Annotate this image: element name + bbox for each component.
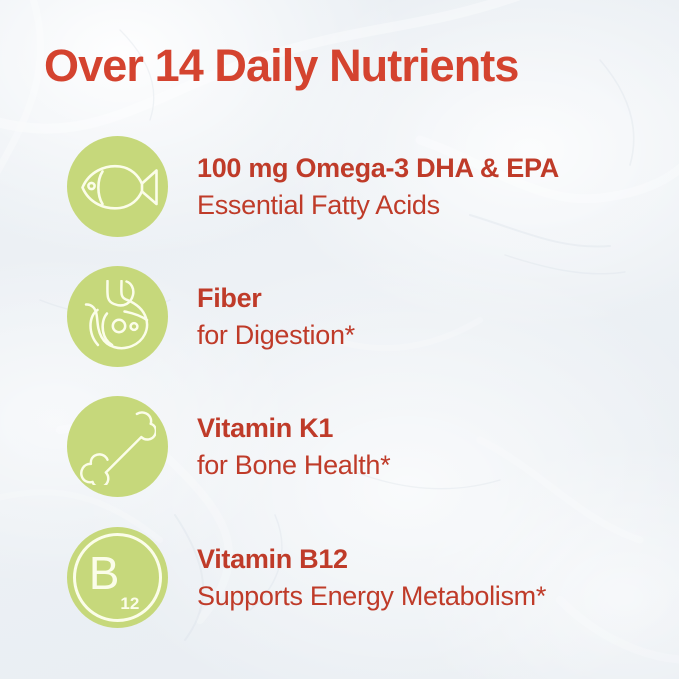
nutrient-row-fiber: Fiber for Digestion*: [0, 266, 679, 367]
nutrient-text-vitamin-b12: Vitamin B12 Supports Energy Metabolism*: [197, 541, 546, 614]
nutrient-subline: Essential Fatty Acids: [197, 187, 559, 224]
nutrient-headline: Vitamin K1: [197, 410, 390, 447]
nutrient-subline: for Bone Health*: [197, 447, 390, 484]
nutrient-infographic: Over 14 Daily Nutrients 100 mg Omega-3 D…: [0, 0, 679, 679]
b12-icon-badge: B12: [67, 527, 168, 628]
stomach-icon: [81, 280, 155, 354]
nutrient-text-omega3: 100 mg Omega-3 DHA & EPA Essential Fatty…: [197, 150, 559, 223]
bone-icon-badge: [67, 396, 168, 497]
stomach-icon-badge: [67, 266, 168, 367]
nutrient-subline: for Digestion*: [197, 317, 355, 354]
page-title: Over 14 Daily Nutrients: [44, 40, 519, 92]
nutrient-headline: 100 mg Omega-3 DHA & EPA: [197, 150, 559, 187]
nutrient-row-vitamin-k1: Vitamin K1 for Bone Health*: [0, 396, 679, 497]
nutrient-headline: Fiber: [197, 280, 355, 317]
nutrient-subline: Supports Energy Metabolism*: [197, 578, 546, 615]
nutrient-text-vitamin-k1: Vitamin K1 for Bone Health*: [197, 410, 390, 483]
nutrient-headline: Vitamin B12: [197, 541, 546, 578]
b12-subscript: 12: [120, 594, 139, 613]
b12-letter: B: [89, 547, 120, 599]
b12-glyph: B12: [89, 550, 139, 602]
nutrient-row-vitamin-b12: B12 Vitamin B12 Supports Energy Metaboli…: [0, 527, 679, 628]
nutrient-row-omega3: 100 mg Omega-3 DHA & EPA Essential Fatty…: [0, 136, 679, 237]
bone-icon: [80, 409, 156, 485]
fish-icon-badge: [67, 136, 168, 237]
b12-icon: B12: [67, 527, 168, 628]
nutrient-text-fiber: Fiber for Digestion*: [197, 280, 355, 353]
fish-icon: [76, 159, 160, 215]
